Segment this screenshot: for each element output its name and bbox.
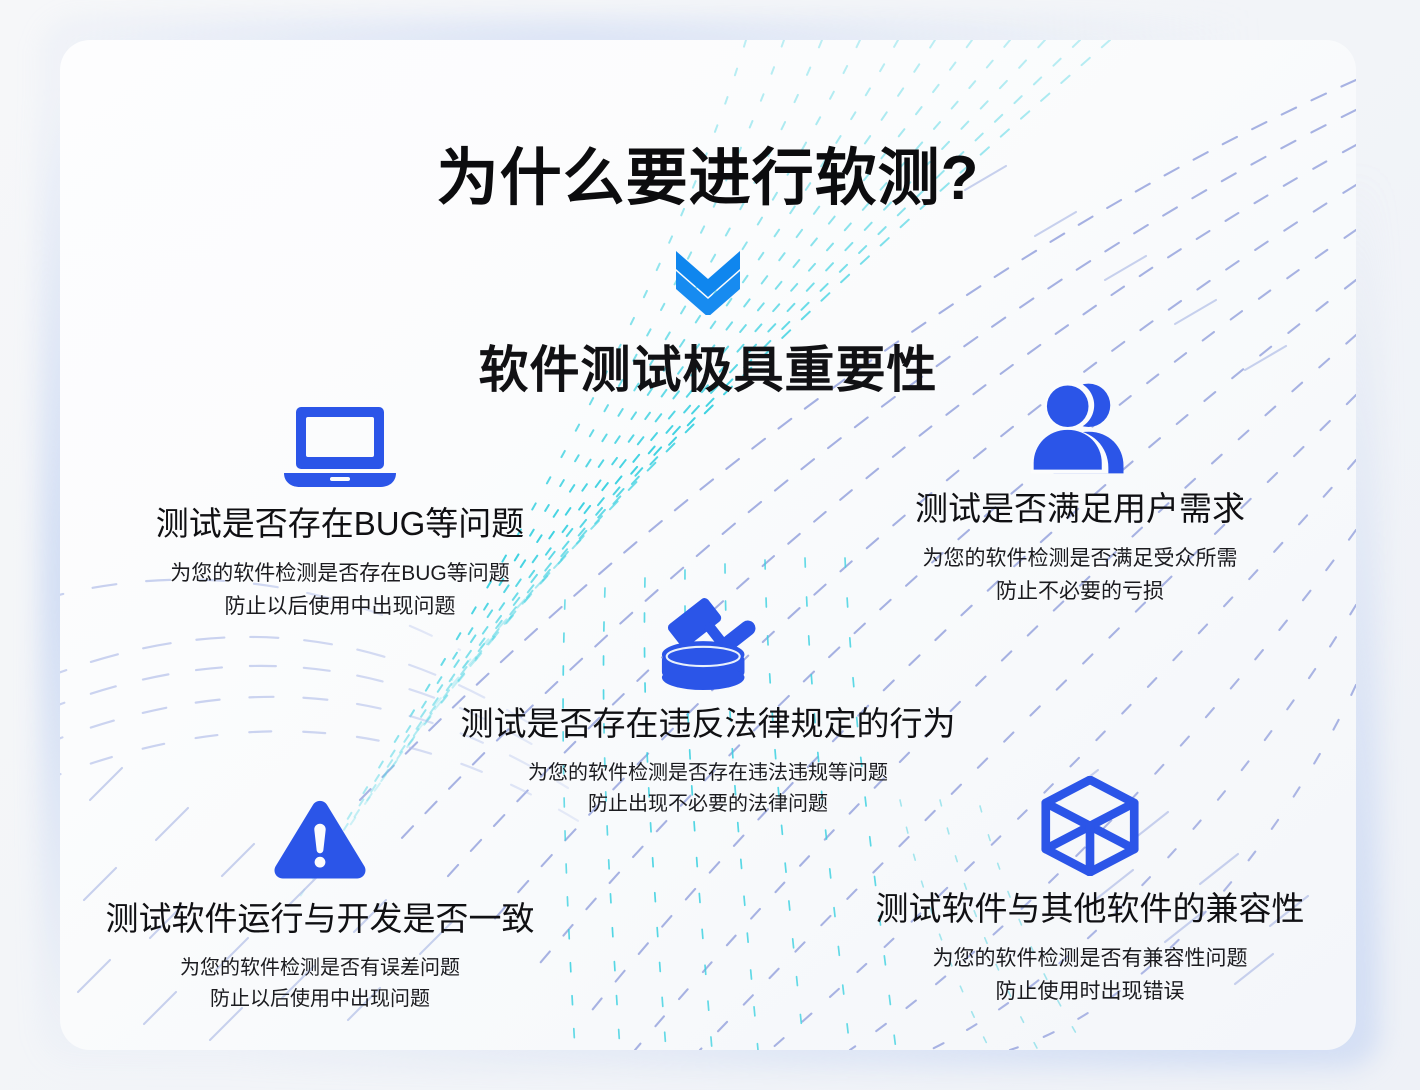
feature-description-line: 为您的软件检测是否存在BUG等问题 [80,558,600,591]
feature-block-consistency: 测试软件运行与开发是否一致 为您的软件检测是否有误差问题 防止以后使用中出现问题 [60,790,580,1015]
feature-title: 测试是否存在BUG等问题 [80,503,600,544]
double-chevron-down-icon [668,245,748,315]
feature-title: 测试软件与其他软件的兼容性 [830,888,1350,929]
layered-box-icon [830,780,1350,876]
feature-description-line: 为您的软件检测是否有兼容性问题 [830,943,1350,976]
feature-description: 为您的软件检测是否有兼容性问题 防止使用时出现错误 [830,943,1350,1008]
feature-title: 测试是否满足用户需求 [820,488,1340,529]
feature-description: 为您的软件检测是否有误差问题 防止以后使用中出现问题 [60,953,580,1015]
feature-block-users: 测试是否满足用户需求 为您的软件检测是否满足受众所需 防止不必要的亏损 [820,380,1340,608]
warning-triangle-icon [60,790,580,886]
feature-title: 测试是否存在违反法律规定的行为 [448,703,968,744]
page-title: 为什么要进行软测? [60,145,1356,213]
laptop-icon [80,395,600,491]
infographic-card: 为什么要进行软测? 软件测试极具重要性 测试是否存在BUG等问题 为您的软件检测… [60,40,1356,1050]
feature-block-bug: 测试是否存在BUG等问题 为您的软件检测是否存在BUG等问题 防止以后使用中出现… [80,395,600,623]
feature-description-line: 为您的软件检测是否有误差问题 [60,953,580,984]
feature-title: 测试软件运行与开发是否一致 [60,898,580,939]
gavel-icon [448,595,968,691]
two-users-icon [820,380,1340,476]
feature-block-compatibility: 测试软件与其他软件的兼容性 为您的软件检测是否有兼容性问题 防止使用时出现错误 [830,780,1350,1008]
feature-description-line: 防止以后使用中出现问题 [60,984,580,1015]
feature-description-line: 防止使用时出现错误 [830,976,1350,1009]
feature-description-line: 为您的软件检测是否满足受众所需 [820,543,1340,576]
